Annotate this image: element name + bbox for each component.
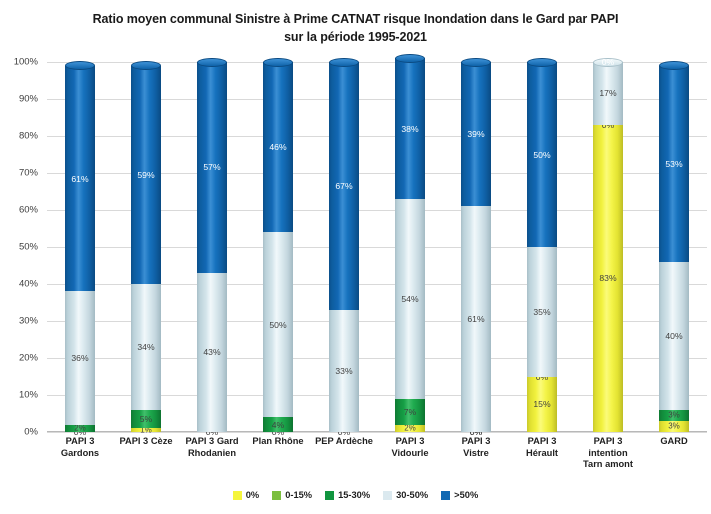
bar-column[interactable]: 15%0%35%50% xyxy=(527,62,557,432)
bar-segment[interactable]: 17% xyxy=(593,62,623,125)
bar-segment-label: 3% xyxy=(659,422,689,431)
bar-segment-label: 0% xyxy=(593,57,623,67)
x-axis-category-line: PAPI 3 xyxy=(505,436,579,448)
legend-label: 30-50% xyxy=(396,490,428,500)
bar-segment[interactable]: 50% xyxy=(263,232,293,417)
legend-swatch xyxy=(272,491,281,500)
bar-column[interactable]: 2%7%54%38% xyxy=(395,62,425,432)
bar-segment[interactable]: 61% xyxy=(65,66,95,292)
x-axis-category-line: intention xyxy=(571,448,645,460)
bar-segment-label: 15% xyxy=(527,399,557,409)
y-axis: 100%90%80%70%60%50%40%30%20%10%0% xyxy=(0,52,44,442)
bar-segment-label: 46% xyxy=(263,142,293,152)
x-axis-category-line: PAPI 3 Cèze xyxy=(109,436,183,448)
bar-segment[interactable]: 54% xyxy=(395,199,425,399)
bar-segment-label: 57% xyxy=(197,162,227,172)
bar-segment-label: 2% xyxy=(395,424,425,433)
bar-segment-label: 43% xyxy=(197,347,227,357)
bar-segment[interactable]: 40% xyxy=(659,262,689,410)
cylinder-top-cap xyxy=(461,58,491,67)
bar-segment[interactable]: 67% xyxy=(329,62,359,310)
y-axis-tick-label: 90% xyxy=(19,94,38,105)
bar-segment-label: 33% xyxy=(329,366,359,376)
legend-item[interactable]: 0% xyxy=(233,490,259,500)
y-axis-tick-label: 40% xyxy=(19,279,38,290)
bar-segment[interactable]: 46% xyxy=(263,62,293,232)
bar-stack[interactable]: 0%43%57% xyxy=(197,62,227,432)
x-axis-category-line: Tarn amont xyxy=(571,459,645,471)
bar-column[interactable]: 0%4%50%46% xyxy=(263,62,293,432)
bar-segment-label: 17% xyxy=(593,88,623,98)
x-axis-category-label: Plan Rhône xyxy=(241,436,315,448)
bars-layer: 0%2%36%61%1%5%34%59%0%43%57%0%4%50%46%0%… xyxy=(47,62,707,432)
legend-item[interactable]: 30-50% xyxy=(383,490,428,500)
bar-segment[interactable]: 57% xyxy=(197,62,227,273)
legend-label: >50% xyxy=(454,490,478,500)
legend-label: 0-15% xyxy=(285,490,312,500)
bar-segment[interactable]: 53% xyxy=(659,66,689,262)
bar-segment[interactable]: 50% xyxy=(527,62,557,247)
y-axis-tick-label: 20% xyxy=(19,353,38,364)
x-axis-category-label: PEP Ardèche xyxy=(307,436,381,448)
x-axis-category-line: PEP Ardèche xyxy=(307,436,381,448)
x-axis-category-label: PAPI 3Gardons xyxy=(43,436,117,459)
bar-stack[interactable]: 0%33%67% xyxy=(329,62,359,432)
bar-column[interactable]: 1%5%34%59% xyxy=(131,62,161,432)
bar-segment[interactable]: 83% xyxy=(593,125,623,432)
bar-segment-label: 50% xyxy=(263,320,293,330)
x-axis-category-line: Vidourle xyxy=(373,448,447,460)
x-axis-category-label: PAPI 3 GardRhodanien xyxy=(175,436,249,459)
cylinder-top-cap xyxy=(197,58,227,67)
legend-swatch xyxy=(233,491,242,500)
bar-stack[interactable]: 2%7%54%38% xyxy=(395,62,425,432)
bar-segment-label: 34% xyxy=(131,342,161,352)
y-axis-tick-label: 70% xyxy=(19,168,38,179)
bar-segment[interactable]: 43% xyxy=(197,273,227,432)
bar-segment[interactable]: 39% xyxy=(461,62,491,206)
chart-title: Ratio moyen communal Sinistre à Prime CA… xyxy=(0,10,711,46)
chart-container: Ratio moyen communal Sinistre à Prime CA… xyxy=(0,0,711,514)
bar-segment-label: 83% xyxy=(593,273,623,283)
x-axis-category-line: Hérault xyxy=(505,448,579,460)
bar-segment[interactable]: 33% xyxy=(329,310,359,432)
x-axis-category-line: PAPI 3 xyxy=(571,436,645,448)
legend-item[interactable]: 15-30% xyxy=(325,490,370,500)
cylinder-top-cap xyxy=(395,54,425,63)
x-axis-category-line: Rhodanien xyxy=(175,448,249,460)
bar-segment-label: 36% xyxy=(65,353,95,363)
x-axis-category-line: Plan Rhône xyxy=(241,436,315,448)
x-axis-category-label: PAPI 3Vistre xyxy=(439,436,513,459)
x-axis-category-label: PAPI 3 Cèze xyxy=(109,436,183,448)
bar-column[interactable]: 83%0%17%0% xyxy=(593,62,623,432)
bar-segment-label: 61% xyxy=(65,174,95,184)
legend-swatch xyxy=(325,491,334,500)
y-axis-tick-label: 100% xyxy=(14,57,38,68)
bar-stack[interactable]: 1%5%34%59% xyxy=(131,62,161,432)
bar-segment[interactable]: 59% xyxy=(131,66,161,284)
chart-title-line-2: sur la période 1995-2021 xyxy=(0,28,711,46)
bar-segment[interactable]: 34% xyxy=(131,284,161,410)
x-axis-category-line: PAPI 3 xyxy=(439,436,513,448)
bar-segment[interactable]: 3% xyxy=(659,421,689,432)
y-axis-tick-label: 60% xyxy=(19,205,38,216)
bar-column[interactable]: 0%43%57% xyxy=(197,62,227,432)
bar-segment-label: 7% xyxy=(395,407,425,417)
bar-segment-label: 54% xyxy=(395,294,425,304)
x-axis: PAPI 3GardonsPAPI 3 CèzePAPI 3 GardRhoda… xyxy=(47,436,707,484)
x-axis-category-label: PAPI 3intentionTarn amont xyxy=(571,436,645,471)
bar-stack[interactable]: 0%0%61%39% xyxy=(461,62,491,432)
bar-stack[interactable]: 15%0%35%50% xyxy=(527,62,557,432)
x-axis-category-line: Gardons xyxy=(43,448,117,460)
bar-segment[interactable]: 35% xyxy=(527,247,557,377)
legend-label: 0% xyxy=(246,490,259,500)
bar-segment[interactable]: 4% xyxy=(263,417,293,432)
legend-label: 15-30% xyxy=(338,490,370,500)
bar-stack[interactable]: 3%3%40%53% xyxy=(659,62,689,432)
y-axis-tick-label: 0% xyxy=(24,427,38,438)
x-axis-category-line: GARD xyxy=(637,436,711,448)
bar-segment-label: 38% xyxy=(395,124,425,134)
bar-segment[interactable]: 7% xyxy=(395,399,425,425)
x-axis-category-line: Vistre xyxy=(439,448,513,460)
cylinder-top-cap xyxy=(527,58,557,67)
bar-segment[interactable]: 36% xyxy=(65,291,95,424)
x-axis-category-label: GARD xyxy=(637,436,711,448)
bar-segment[interactable]: 1% xyxy=(131,428,161,432)
x-axis-category-line: PAPI 3 xyxy=(43,436,117,448)
bar-segment-label: 35% xyxy=(527,307,557,317)
legend-item[interactable]: >50% xyxy=(441,490,478,500)
bar-segment-label: 50% xyxy=(527,150,557,160)
bar-segment-label: 2% xyxy=(65,424,95,433)
x-axis-category-line: PAPI 3 Gard xyxy=(175,436,249,448)
y-axis-tick-label: 80% xyxy=(19,131,38,142)
bar-segment-label: 39% xyxy=(461,129,491,139)
bar-segment-label: 53% xyxy=(659,159,689,169)
x-axis-category-label: PAPI 3Hérault xyxy=(505,436,579,459)
y-axis-tick-label: 30% xyxy=(19,316,38,327)
bar-segment-label: 3% xyxy=(659,411,689,420)
bar-segment[interactable]: 3% xyxy=(659,410,689,421)
chart-legend: 0%0-15%15-30%30-50%>50% xyxy=(0,490,711,500)
cylinder-top-cap xyxy=(263,58,293,67)
bar-segment[interactable]: 5% xyxy=(131,410,161,429)
x-axis-category-line: PAPI 3 xyxy=(373,436,447,448)
bar-segment[interactable]: 15% xyxy=(527,377,557,433)
bar-segment-label: 4% xyxy=(263,420,293,430)
bar-segment[interactable]: 2% xyxy=(395,425,425,432)
legend-swatch xyxy=(383,491,392,500)
bar-column[interactable]: 0%2%36%61% xyxy=(65,62,95,432)
y-axis-tick-label: 50% xyxy=(19,242,38,253)
legend-swatch xyxy=(441,491,450,500)
bar-stack[interactable]: 0%4%50%46% xyxy=(263,62,293,432)
bar-column[interactable]: 0%0%61%39% xyxy=(461,62,491,432)
bar-segment-label: 40% xyxy=(659,331,689,341)
chart-title-line-1: Ratio moyen communal Sinistre à Prime CA… xyxy=(0,10,711,28)
bar-segment-label: 67% xyxy=(329,181,359,191)
bar-stack[interactable]: 0%2%36%61% xyxy=(65,62,95,432)
bar-column[interactable]: 0%33%67% xyxy=(329,62,359,432)
bar-column[interactable]: 3%3%40%53% xyxy=(659,62,689,432)
legend-item[interactable]: 0-15% xyxy=(272,490,312,500)
bar-segment-label: 5% xyxy=(131,414,161,424)
bar-segment-label: 59% xyxy=(131,170,161,180)
bar-stack[interactable]: 83%0%17%0% xyxy=(593,62,623,432)
bar-segment[interactable]: 2% xyxy=(65,425,95,432)
bar-segment[interactable]: 61% xyxy=(461,206,491,432)
x-axis-category-label: PAPI 3Vidourle xyxy=(373,436,447,459)
bar-segment-label: 61% xyxy=(461,314,491,324)
bar-segment[interactable]: 38% xyxy=(395,58,425,199)
y-axis-tick-label: 10% xyxy=(19,390,38,401)
cylinder-top-cap xyxy=(329,58,359,67)
